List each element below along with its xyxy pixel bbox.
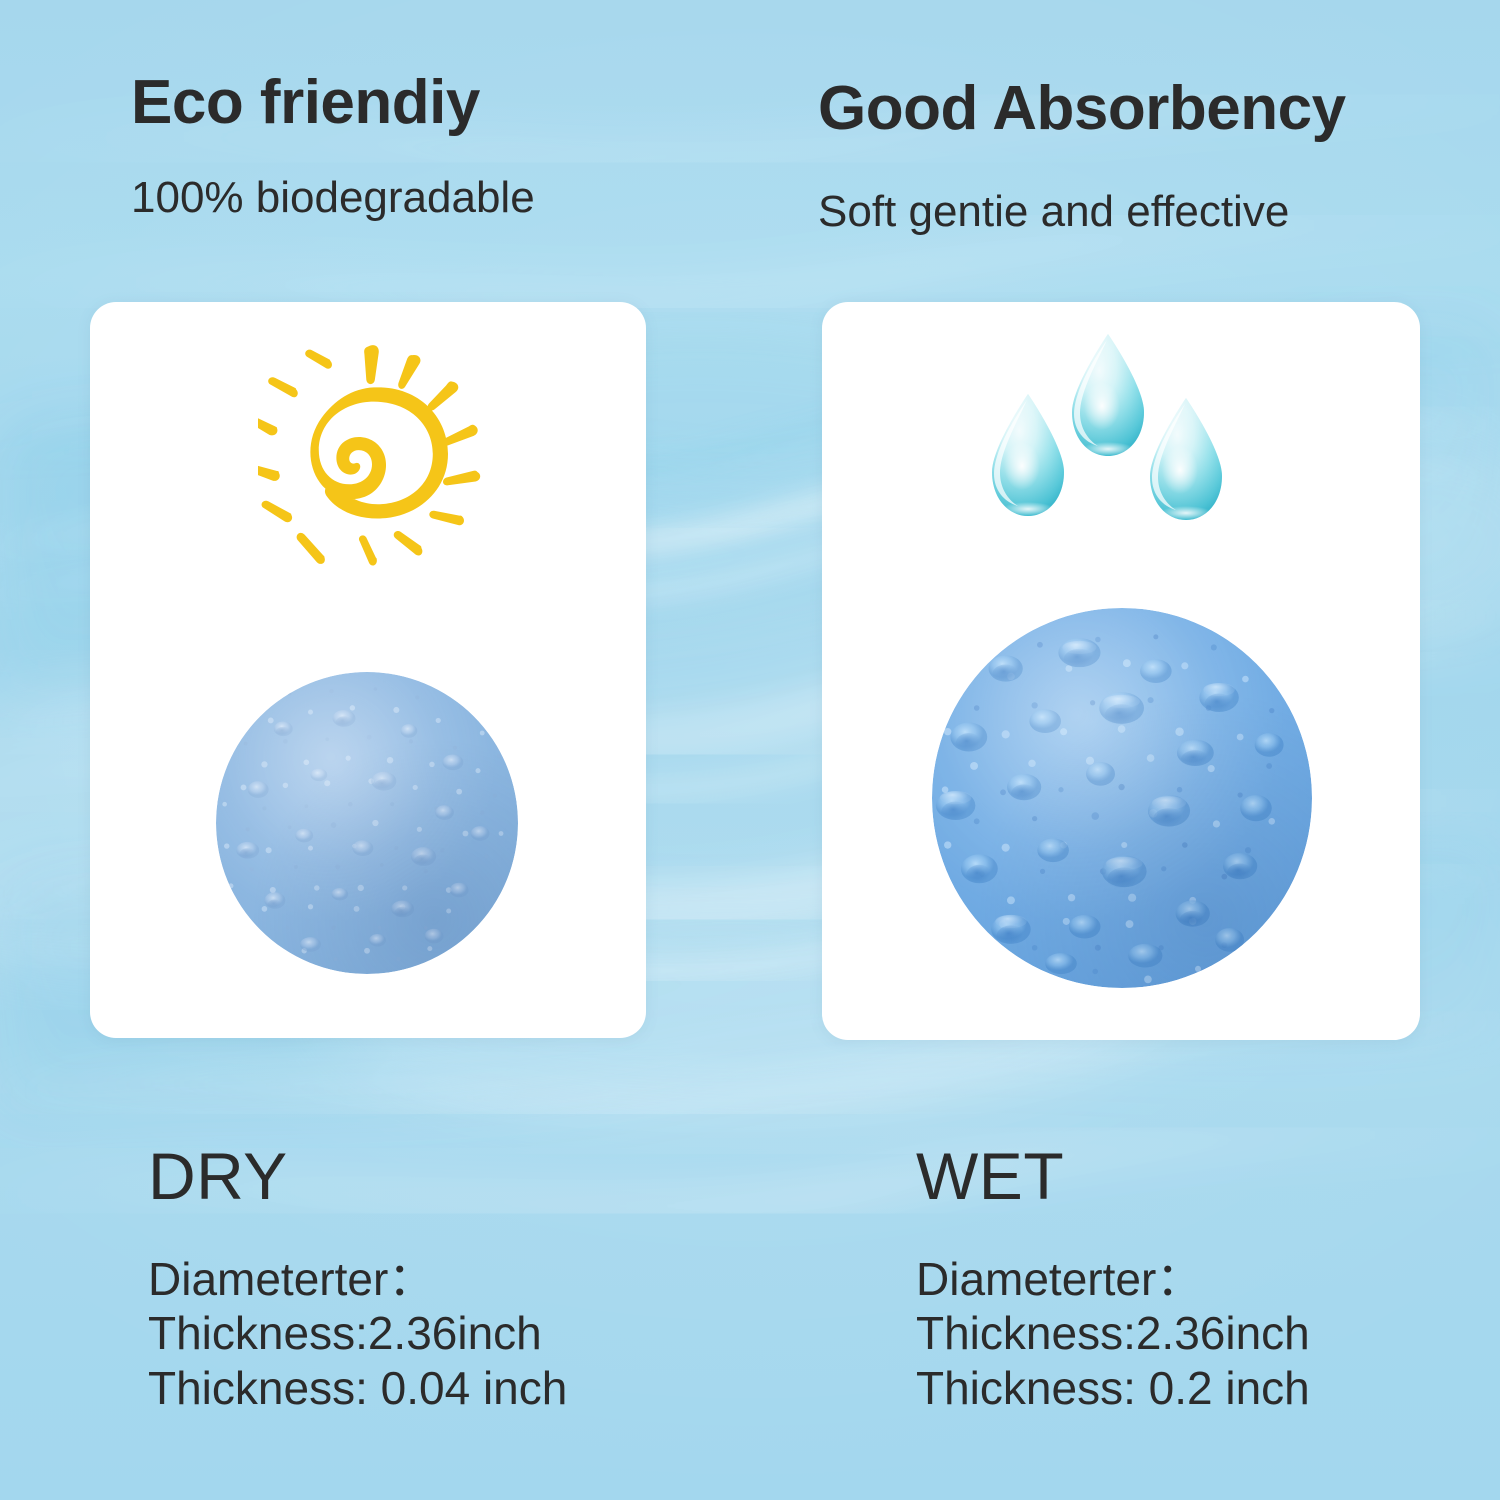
panel-subtitle-eco-friendly: 100% biodegradable <box>131 176 535 220</box>
panel-title-good-absorbency: Good Absorbency <box>818 78 1346 140</box>
spec-line-thickness-1-wet: Thickness:2.36inch <box>916 1306 1310 1360</box>
water-droplets-icon <box>980 328 1260 578</box>
spec-line-diameter-dry: Diameterter： <box>148 1252 567 1306</box>
sponge-dry <box>216 672 518 974</box>
state-label-dry: DRY <box>148 1143 288 1209</box>
product-card-wet <box>822 302 1420 1040</box>
sponge-pore-texture-wet <box>932 608 1312 988</box>
state-label-wet: WET <box>916 1143 1064 1209</box>
spec-line-thickness-1-dry: Thickness:2.36inch <box>148 1306 567 1360</box>
panel-subtitle-good-absorbency: Soft gentie and effective <box>818 190 1289 234</box>
product-card-dry <box>90 302 646 1038</box>
product-infographic: Eco friendiy 100% biodegradable Good Abs… <box>0 0 1500 1500</box>
spec-list-dry: Diameterter： Thickness:2.36inch Thicknes… <box>148 1252 567 1415</box>
spec-line-thickness-2-wet: Thickness: 0.2 inch <box>916 1361 1310 1415</box>
spec-list-wet: Diameterter： Thickness:2.36inch Thicknes… <box>916 1252 1310 1415</box>
spec-line-thickness-2-dry: Thickness: 0.04 inch <box>148 1361 567 1415</box>
sun-icon <box>258 338 486 566</box>
spec-line-diameter-wet: Diameterter： <box>916 1252 1310 1306</box>
sponge-wet <box>932 608 1312 988</box>
panel-title-eco-friendly: Eco friendiy <box>131 72 480 134</box>
sponge-pore-texture-dry <box>216 672 518 974</box>
